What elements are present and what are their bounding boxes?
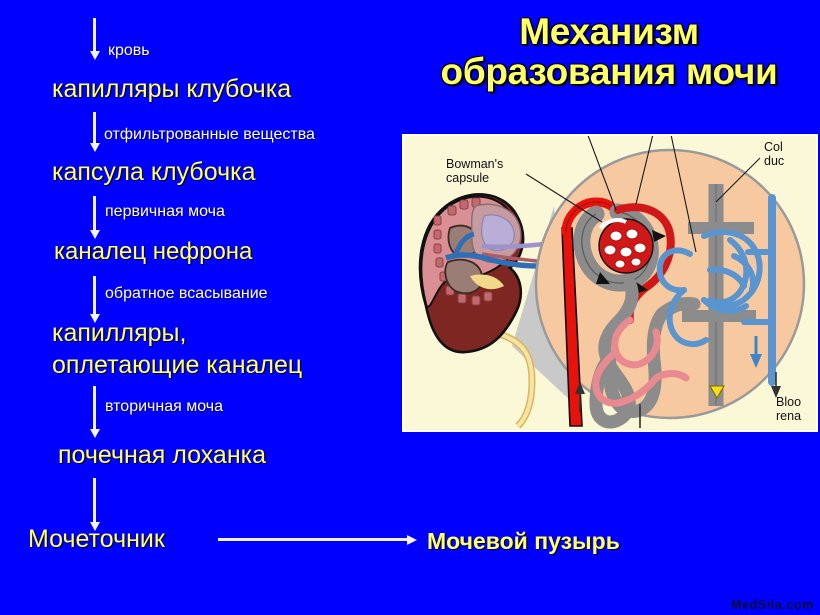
flow-arrow-6 [93,478,96,523]
urine-formation-flowchart: кровь капилляры клубочка отфильтрованные… [0,0,400,615]
flow-step-6-ureter: Мочеточник [28,526,165,552]
flow-terminal-bladder: Мочевой пузырь [427,528,620,555]
flow-arrow-5 [93,386,96,430]
title-line-2: образования мочи [400,52,818,92]
flow-arrow-1 [93,18,96,52]
flow-connector-label-4: обратное всасывание [105,285,268,303]
figure-label-bowmans-line2: capsule [446,171,489,185]
flow-step-3: каналец нефрона [54,240,252,265]
title-line-1: Механизм [400,12,818,52]
figure-label-blood-to-renal-vein: Bloo rena [776,395,801,424]
figure-label-bowmans-line1: Bowman's [446,157,503,171]
flow-step-4-line-1: капилляры, [52,320,186,346]
flow-arrow-4 [93,276,96,315]
figure-label-bowmans-capsule: Bowman's capsule [446,157,503,186]
flow-connector-label-5: вторичная моча [105,398,223,416]
flow-arrow-2 [93,112,96,144]
nephron-diagram-figure: Bowman's capsule Col duc Bloo rena [402,134,818,432]
figure-label-collecting-line1: Col [764,140,783,154]
flow-arrow-3 [93,196,96,231]
flow-connector-label-1: кровь [108,42,150,60]
figure-label-blood-line1: Bloo [776,395,801,409]
flow-step-1: капилляры клубочка [52,76,291,102]
flow-connector-label-3: первичная моча [105,203,225,221]
watermark: MedSila.com [731,598,814,612]
page-title: Механизм образования мочи [400,12,818,92]
figure-label-collecting-line2: duc [764,154,784,168]
figure-label-blood-line2: rena [776,409,801,423]
flow-step-2: капсула клубочка [52,159,256,185]
figure-label-collecting-duct: Col duc [764,140,784,169]
flow-connector-label-2: отфильтрованные вещества [104,126,315,144]
slide-canvas: Механизм образования мочи кровь капилляр… [0,0,820,615]
flow-step-4-line-2: оплетающие каналец [52,352,302,378]
flow-arrow-ureter-to-bladder [218,538,408,541]
flow-step-5: почечная лоханка [58,442,266,468]
